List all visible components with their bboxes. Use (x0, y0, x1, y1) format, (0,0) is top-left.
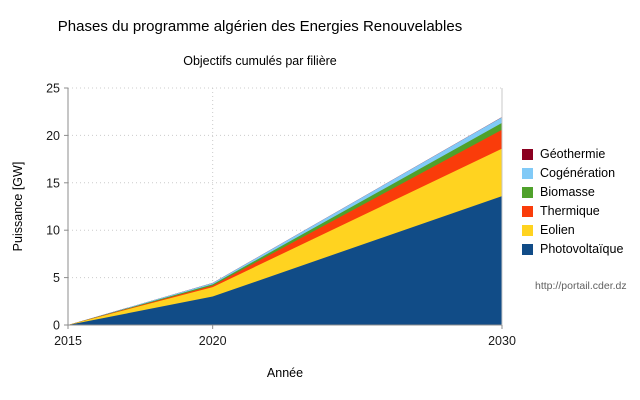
svg-text:0: 0 (53, 319, 60, 333)
svg-text:2015: 2015 (54, 334, 82, 348)
legend-swatch-icon (522, 225, 533, 236)
legend-swatch-icon (522, 206, 533, 217)
legend-item-g-othermie[interactable]: Géothermie (522, 145, 640, 163)
legend-item-label: Thermique (540, 205, 600, 218)
svg-text:Puissance [GW]: Puissance [GW] (11, 162, 25, 252)
legend-swatch-icon (522, 168, 533, 179)
chart-legend: GéothermieCogénérationBiomasseThermiqueE… (522, 145, 640, 259)
svg-text:Année: Année (267, 366, 303, 380)
legend-swatch-icon (522, 149, 533, 160)
svg-text:10: 10 (46, 224, 60, 238)
legend-item-label: Eolien (540, 224, 575, 237)
legend-swatch-icon (522, 187, 533, 198)
svg-text:15: 15 (46, 176, 60, 190)
legend-swatch-icon (522, 244, 533, 255)
chart-container: Phases du programme algérien des Energie… (0, 0, 640, 400)
svg-text:2020: 2020 (199, 334, 227, 348)
legend-item-eolien[interactable]: Eolien (522, 221, 640, 239)
legend-item-photovolta-que[interactable]: Photovoltaïque (522, 240, 640, 258)
source-url-label: http://portail.cder.dz (535, 280, 627, 292)
svg-text:5: 5 (53, 271, 60, 285)
y-axis-tick-labels: 0510152025 (46, 82, 68, 333)
legend-item-label: Biomasse (540, 186, 595, 199)
legend-item-label: Photovoltaïque (540, 243, 623, 256)
x-axis-tick-labels: 201520202030 (54, 325, 516, 348)
svg-text:25: 25 (46, 82, 60, 96)
svg-text:2030: 2030 (488, 334, 516, 348)
stacked-area-series (68, 117, 502, 325)
svg-text:20: 20 (46, 129, 60, 143)
legend-item-label: Géothermie (540, 148, 605, 161)
legend-item-cog-n-ration[interactable]: Cogénération (522, 164, 640, 182)
legend-item-biomasse[interactable]: Biomasse (522, 183, 640, 201)
legend-item-thermique[interactable]: Thermique (522, 202, 640, 220)
legend-item-label: Cogénération (540, 167, 615, 180)
